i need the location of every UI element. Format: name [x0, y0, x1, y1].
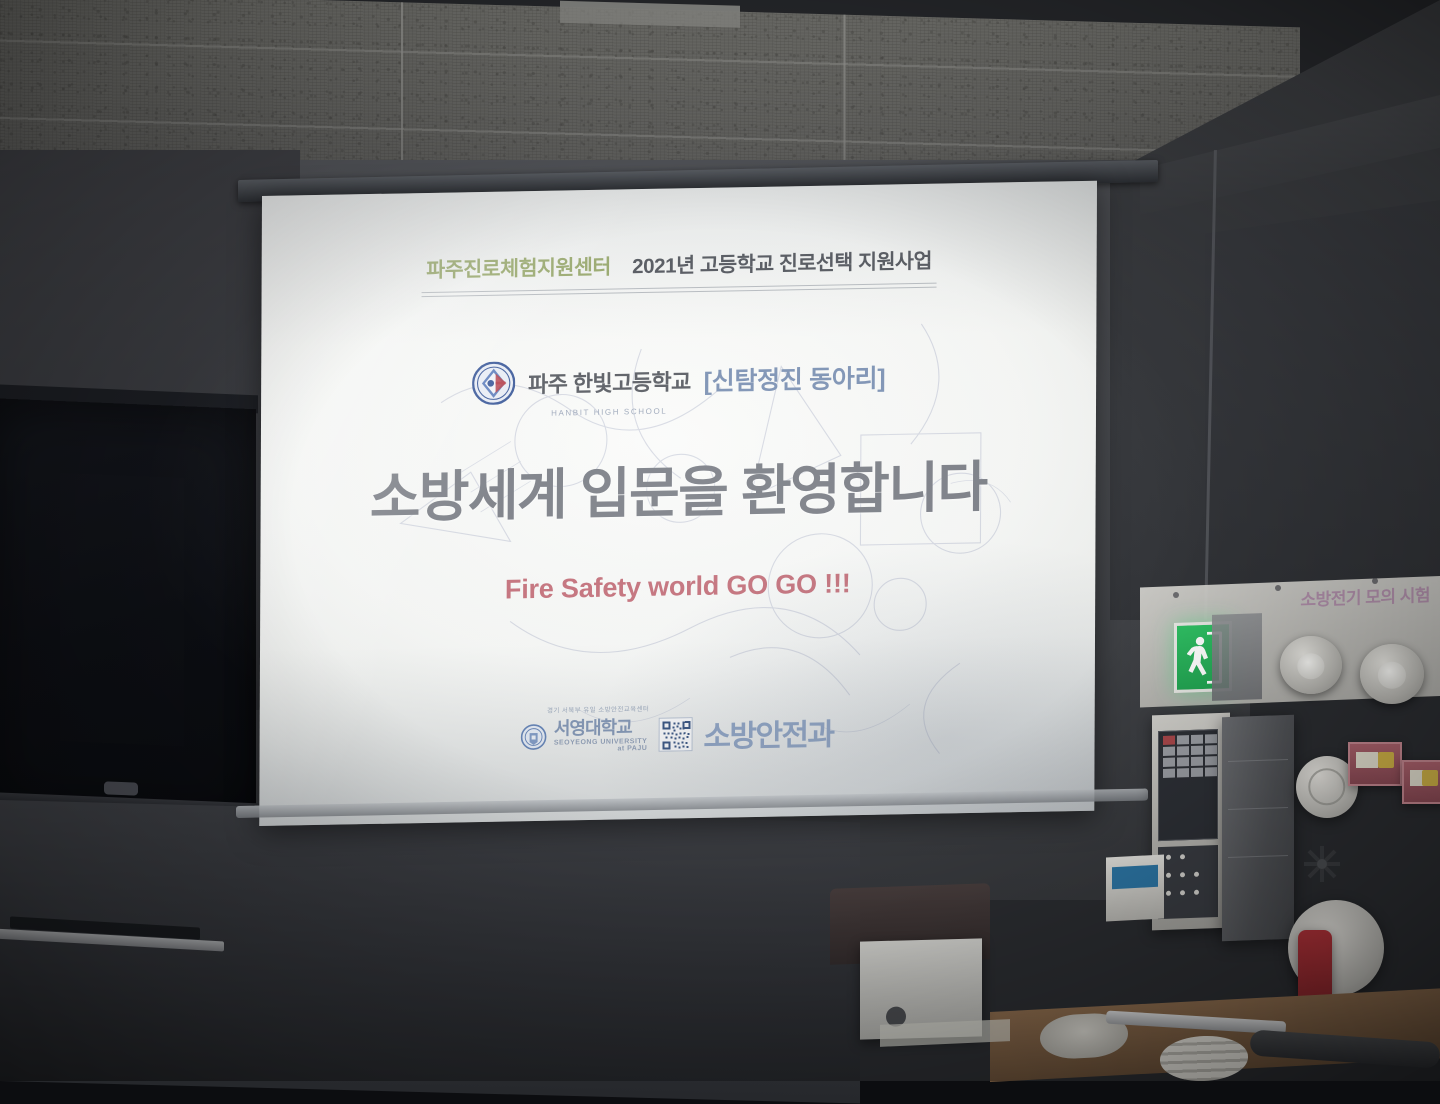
school-crest-icon — [472, 361, 515, 405]
fire-alarm-panel-display — [1158, 729, 1218, 841]
fire-alarm-keypad[interactable] — [1163, 734, 1217, 778]
lower-wall — [0, 800, 860, 1104]
monitor-screen — [1112, 865, 1158, 889]
header-organization: 파주진로체험지원센터 — [426, 256, 611, 282]
panel-screw — [1275, 585, 1281, 591]
qr-code-icon[interactable] — [658, 717, 692, 752]
running-man-glyph — [1187, 635, 1215, 684]
department-name: 소방안전과 — [703, 710, 833, 756]
slide-footer: 경기 서북부 유일 소방안전교육센터 서영대학교 SEOYEONG U — [260, 705, 1095, 764]
projector-screen[interactable]: 파주진로체험지원센터 2021년 고등학교 진로선택 지원사업 — [259, 181, 1097, 826]
chalk-eraser — [104, 781, 138, 795]
club-name: [신탐정진 동아리] — [704, 358, 886, 397]
university-tagline: 경기 서북부 유일 소방안전교육센터 — [547, 703, 649, 715]
smoke-detector — [1360, 644, 1424, 704]
panel-screw — [1173, 592, 1179, 598]
valve-handwheel[interactable] — [1300, 842, 1344, 886]
right-wall-recess — [1205, 200, 1440, 620]
university-names: 서영대학교 SEOYEONG UNIVERSITY at PAJU — [554, 718, 648, 754]
slide-header: 파주진로체험지원센터 2021년 고등학교 진로선택 지원사업 — [306, 242, 1053, 286]
classroom-scene: 파주진로체험지원센터 2021년 고등학교 진로선택 지원사업 — [0, 0, 1440, 1081]
slide-subtitle: Fire Safety world GO GO !!! — [304, 565, 1051, 610]
equipment-cabinet[interactable] — [1222, 715, 1294, 942]
manual-call-point[interactable] — [1348, 742, 1402, 786]
school-name-english: HANBIT HIGH SCHOOL — [551, 406, 667, 417]
header-program: 2021년 고등학교 진로선택 지원사업 — [632, 250, 932, 278]
smoke-detector — [1280, 636, 1342, 694]
slide-title: 소방세계 입문을 환영합니다 — [305, 441, 1052, 535]
slide-content: 파주진로체험지원센터 2021년 고등학교 진로선택 지원사업 — [259, 181, 1097, 826]
school-row: 파주 한빛고등학교 HANBIT HIGH SCHOOL [신탐정진 동아리] — [305, 352, 1052, 409]
university-name-korean: 서영대학교 — [554, 718, 648, 738]
blackboard — [0, 398, 256, 821]
university-seal-icon — [521, 724, 547, 750]
small-monitor — [1106, 854, 1164, 921]
school-name: 파주 한빛고등학교 — [528, 369, 691, 397]
fire-alarm-panel-indicators — [1158, 845, 1218, 919]
exit-sign-mount-box — [1212, 613, 1262, 701]
university-branding: 경기 서북부 유일 소방안전교육센터 서영대학교 SEOYEONG U — [521, 718, 648, 754]
panel-screw — [1372, 578, 1378, 584]
projected-slide: 파주진로체험지원센터 2021년 고등학교 진로선택 지원사업 — [259, 181, 1097, 826]
header-divider — [421, 283, 936, 297]
manual-call-point[interactable] — [1402, 760, 1440, 804]
